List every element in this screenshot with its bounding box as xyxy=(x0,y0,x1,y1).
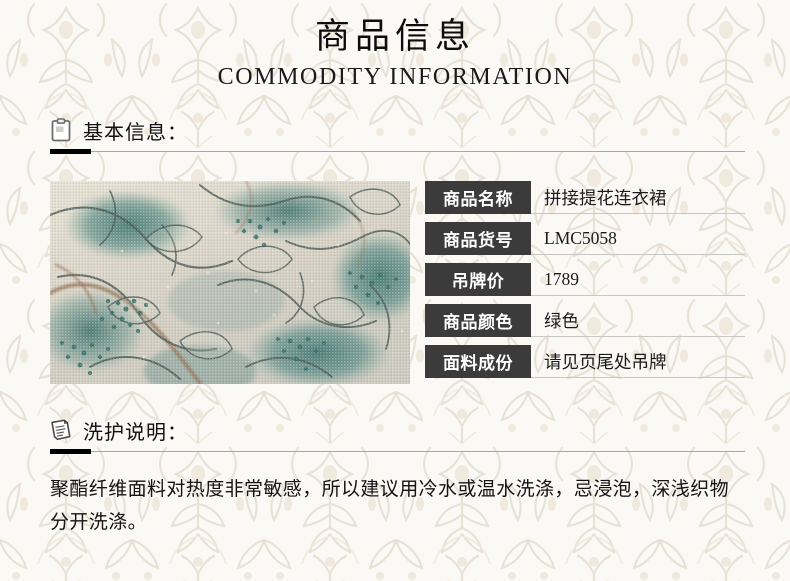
table-row: 商品货号 LMC5058 xyxy=(425,222,745,255)
table-row: 商品颜色 绿色 xyxy=(425,304,745,337)
spec-key: 商品颜色 xyxy=(425,304,531,337)
spec-value: 绿色 xyxy=(531,304,745,337)
table-row: 吊牌价 1789 xyxy=(425,263,745,296)
table-row: 面料成份 请见页尾处吊牌 xyxy=(425,345,745,378)
spec-value: LMC5058 xyxy=(531,222,745,255)
document-lines-icon xyxy=(50,418,72,442)
spec-key: 吊牌价 xyxy=(425,263,531,296)
page-title-en: COMMODITY INFORMATION xyxy=(0,61,790,93)
section-label-care: 洗护说明： xyxy=(83,416,188,445)
spec-value: 请见页尾处吊牌 xyxy=(531,345,745,378)
section-head-care: 洗护说明： xyxy=(50,415,745,445)
spec-key: 商品名称 xyxy=(425,181,531,214)
spec-key: 商品货号 xyxy=(425,222,531,255)
basic-info-section-header: 基本信息： xyxy=(50,115,745,152)
section-label-basic-info: 基本信息： xyxy=(83,116,188,145)
care-section-header: 洗护说明： xyxy=(50,415,745,452)
spec-table: 商品名称 拼接提花连衣裙 商品货号 LMC5058 吊牌价 1789 商品颜色 … xyxy=(425,181,745,378)
page-title-cn: 商品信息 xyxy=(0,14,790,60)
product-photo xyxy=(50,181,410,384)
clipboard-icon xyxy=(50,118,72,142)
table-row: 商品名称 拼接提花连衣裙 xyxy=(425,181,745,214)
section-head-basic-info: 基本信息： xyxy=(50,115,745,145)
basic-info-body: 商品名称 拼接提花连衣裙 商品货号 LMC5058 吊牌价 1789 商品颜色 … xyxy=(50,152,745,384)
spec-value: 拼接提花连衣裙 xyxy=(531,181,745,214)
spec-value: 1789 xyxy=(531,263,745,296)
commodity-information-page: 商品信息 COMMODITY INFORMATION 基本信息： xyxy=(0,0,790,581)
section-divider-care xyxy=(50,451,745,452)
page-header: 商品信息 COMMODITY INFORMATION xyxy=(0,0,790,93)
care-instructions-text: 聚酯纤维面料对热度非常敏感，所以建议用冷水或温水洗涤，忌浸泡，深浅织物分开洗涤。 xyxy=(50,473,745,539)
spec-key: 面料成份 xyxy=(425,345,531,378)
